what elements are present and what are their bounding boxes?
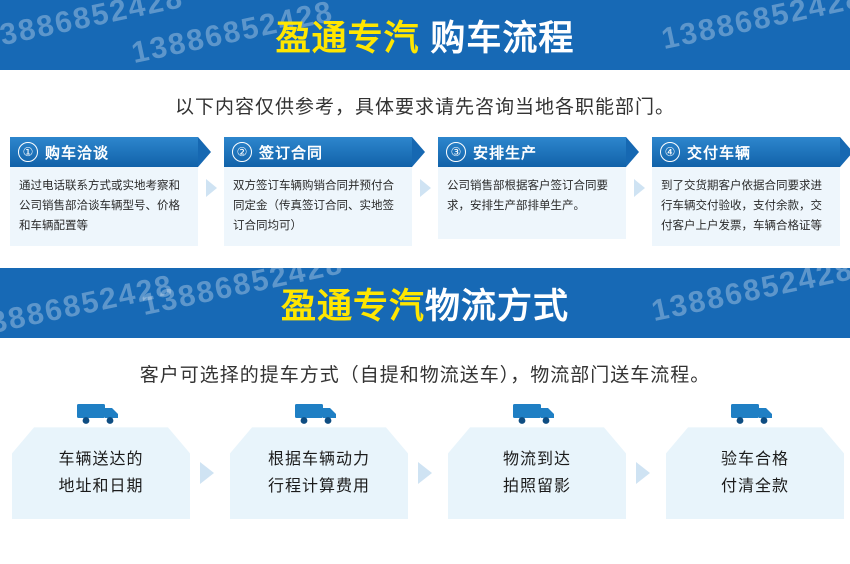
logistics-card-line1: 验车合格 [721,451,789,468]
step-body: 双方签订车辆购销合同并预付合同定金（传真签订合同、实地签订合同均可） [224,167,412,246]
logistics-card-line2: 拍照留影 [503,478,571,495]
section2-banner-title: 盈通专汽物流方式 [281,278,569,329]
logistics-card-text: 验车合格 付清全款 [721,446,789,500]
step-title: 签订合同 [259,142,323,163]
truck-icon [729,401,775,425]
step-number: ① [18,142,38,162]
section1-subtitle: 以下内容仅供参考，具体要求请先咨询当地各职能部门。 [0,70,850,137]
logistics-card-line2: 地址和日期 [58,478,143,495]
watermark: 13886852428 [649,268,850,329]
arrow-right-icon [634,179,645,197]
logistics-card: 物流到达 拍照留影 [448,401,620,519]
watermark: 13886852428 [659,0,850,57]
logistics-separator [620,427,666,519]
section1-banner-title: 盈通专汽 购车流程 [276,10,575,61]
logistics-card-box: 车辆送达的 地址和日期 [12,427,190,519]
arrow-right-icon [420,179,431,197]
step-number: ④ [660,142,680,162]
step-card: ① 购车洽谈 通过电话联系方式或实地考察和公司销售部洽谈车辆型号、价格和车辆配置… [10,137,198,246]
step-title: 交付车辆 [687,142,751,163]
watermark: 13886852428 [0,269,177,338]
section2-subtitle: 客户可选择的提车方式（自提和物流送车），物流部门送车流程。 [0,338,850,397]
step-number: ② [232,142,252,162]
logistics-steps: 车辆送达的 地址和日期 根据车辆动力 行程计算费用 [0,401,850,519]
section1-banner: 13886852428 13886852428 13886852428 盈通专汽… [0,0,850,70]
logistics-card-line1: 车辆送达的 [58,451,143,468]
purchase-steps: ① 购车洽谈 通过电话联系方式或实地考察和公司销售部洽谈车辆型号、价格和车辆配置… [0,137,850,246]
arrow-right-icon [206,179,217,197]
logistics-card: 根据车辆动力 行程计算费用 [230,401,402,519]
section1-banner-brand: 盈通专汽 [276,19,420,58]
step-header: ③ 安排生产 [438,137,626,167]
logistics-card-text: 根据车辆动力 行程计算费用 [268,446,370,500]
step-body: 到了交货期客户依据合同要求进行车辆交付验收，支付余款，交付客户上户发票，车辆合格… [652,167,840,246]
step-number: ③ [446,142,466,162]
step-title: 购车洽谈 [45,142,109,163]
truck-icon [511,401,557,425]
logistics-card-line2: 付清全款 [721,478,789,495]
step-card: ② 签订合同 双方签订车辆购销合同并预付合同定金（传真签订合同、实地签订合同均可… [224,137,412,246]
logistics-card-box: 物流到达 拍照留影 [448,427,626,519]
logistics-card-box: 验车合格 付清全款 [666,427,844,519]
watermark: 13886852428 [0,0,187,57]
logistics-card: 验车合格 付清全款 [666,401,838,519]
truck-icon [293,401,339,425]
logistics-separator [402,427,448,519]
logistics-card-line1: 物流到达 [503,451,571,468]
step-header: ④ 交付车辆 [652,137,840,167]
arrow-right-icon [418,462,432,484]
section2-banner-brand: 盈通专汽 [281,287,425,326]
logistics-separator [184,427,230,519]
arrow-right-icon [200,462,214,484]
step-header: ② 签订合同 [224,137,412,167]
logistics-card-box: 根据车辆动力 行程计算费用 [230,427,408,519]
logistics-card-text: 车辆送达的 地址和日期 [58,446,143,500]
arrow-right-icon [636,462,650,484]
step-title: 安排生产 [473,142,537,163]
logistics-card-text: 物流到达 拍照留影 [503,446,571,500]
step-body: 公司销售部根据客户签订合同要求，安排生产部排单生产。 [438,167,626,239]
section2-banner: 13886852428 13886852428 13886852428 盈通专汽… [0,268,850,338]
logistics-card: 车辆送达的 地址和日期 [12,401,184,519]
step-card: ④ 交付车辆 到了交货期客户依据合同要求进行车辆交付验收，支付余款，交付客户上户… [652,137,840,246]
section1-banner-rest: 购车流程 [420,19,575,58]
section2-banner-rest: 物流方式 [425,287,569,326]
logistics-card-line2: 行程计算费用 [268,478,370,495]
truck-icon [75,401,121,425]
step-body: 通过电话联系方式或实地考察和公司销售部洽谈车辆型号、价格和车辆配置等 [10,167,198,246]
logistics-card-line1: 根据车辆动力 [268,451,370,468]
step-card: ③ 安排生产 公司销售部根据客户签订合同要求，安排生产部排单生产。 [438,137,626,239]
step-header: ① 购车洽谈 [10,137,198,167]
